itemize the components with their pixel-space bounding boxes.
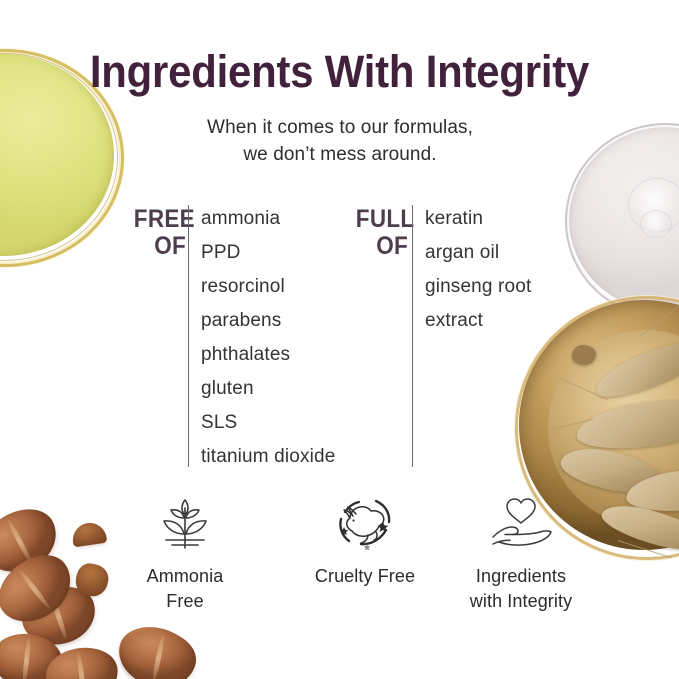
list-item: argan oil <box>425 236 605 270</box>
subtitle-line-2: we don’t mess around. <box>140 141 540 168</box>
ingredient-columns: FREE OF ammonia PPD resorcinol parabens … <box>0 202 679 474</box>
page-title: Ingredients With Integrity <box>24 46 655 98</box>
free-of-label-line-1: FREE <box>134 206 186 233</box>
full-of-divider <box>412 205 413 467</box>
full-of-label: FULL OF <box>356 206 408 260</box>
subtitle-line-1: When it comes to our formulas, <box>140 114 540 141</box>
free-of-label: FREE OF <box>134 206 186 260</box>
leaping-bunny-icon <box>290 492 440 554</box>
content-layer: Ingredients With Integrity When it comes… <box>0 0 679 679</box>
ingredients-infographic: Ingredients With Integrity When it comes… <box>0 0 679 679</box>
badge-cruelty-free: Cruelty Free <box>290 492 440 589</box>
page-subtitle: When it comes to our formulas, we don’t … <box>140 114 540 168</box>
list-item: keratin <box>425 202 605 236</box>
badge-label: Ingredients with Integrity <box>446 564 596 614</box>
full-of-label-line-2: OF <box>356 233 408 260</box>
badge-label: Cruelty Free <box>290 564 440 589</box>
plant-sprout-icon <box>110 492 260 554</box>
free-of-label-line-2: OF <box>134 233 186 260</box>
full-of-column: FULL OF keratin argan oil ginseng root e… <box>350 202 600 470</box>
free-of-column: FREE OF ammonia PPD resorcinol parabens … <box>125 202 365 470</box>
badge-ingredients-with-integrity: Ingredients with Integrity <box>446 492 596 614</box>
certification-badges: Ammonia Free <box>110 492 590 622</box>
full-of-label-line-1: FULL <box>356 206 408 233</box>
heart-in-hand-icon <box>446 492 596 554</box>
full-of-list: keratin argan oil ginseng root extract <box>425 202 605 338</box>
badge-ammonia-free: Ammonia Free <box>110 492 260 614</box>
free-of-divider <box>188 205 189 467</box>
list-item: ginseng root extract <box>425 270 605 338</box>
badge-label: Ammonia Free <box>110 564 260 614</box>
